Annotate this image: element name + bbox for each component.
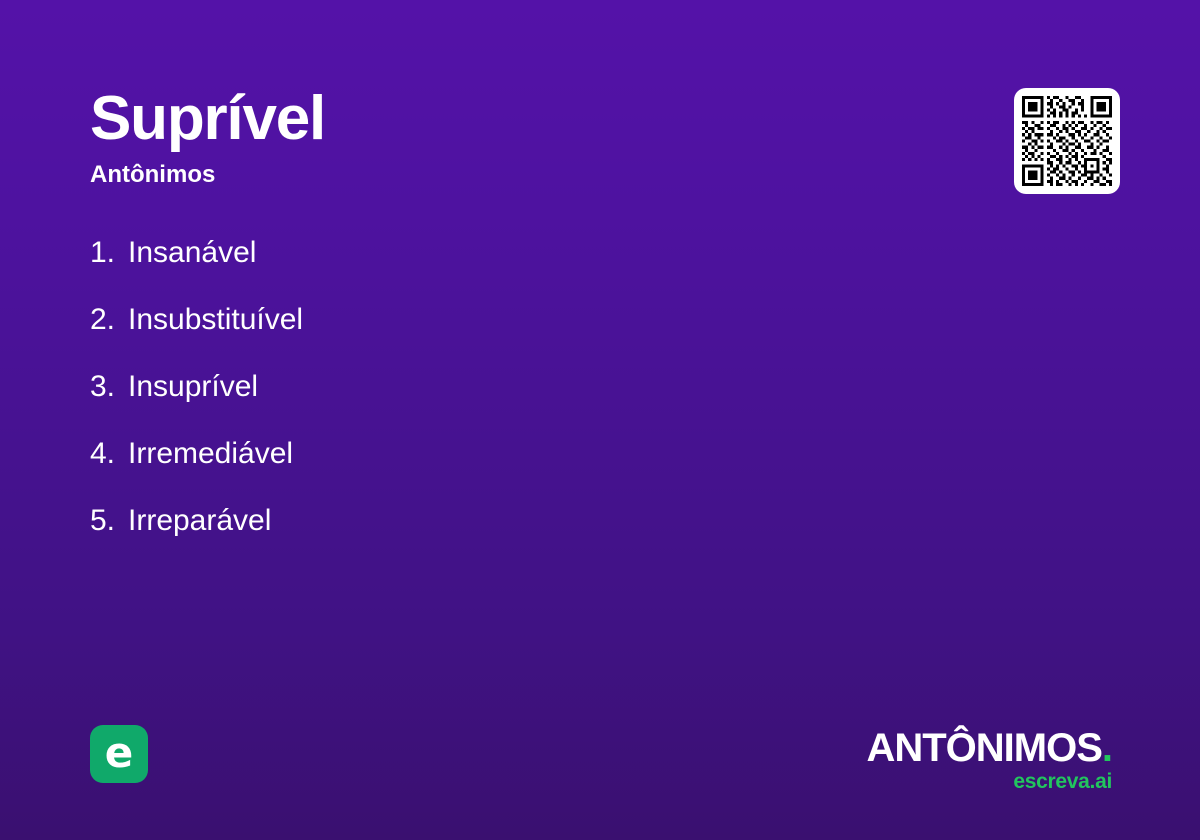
list-item-index: 3. bbox=[90, 372, 128, 402]
brand-logo: e bbox=[90, 725, 148, 783]
list-item-index: 1. bbox=[90, 238, 128, 268]
list-item-index: 4. bbox=[90, 439, 128, 469]
list-item-index: 2. bbox=[90, 305, 128, 335]
list-item: 4. Irremediável bbox=[90, 439, 303, 506]
list-item-word: Insuprível bbox=[128, 372, 258, 402]
footer-brand: ANTÔNIMOS. escreva.ai bbox=[866, 728, 1112, 792]
qr-code[interactable] bbox=[1014, 88, 1120, 194]
list-item: 2. Insubstituível bbox=[90, 305, 303, 372]
list-item-word: Irreparável bbox=[128, 506, 271, 536]
footer-brand-name: ANTÔNIMOS. bbox=[866, 728, 1112, 768]
footer-brand-dot: . bbox=[1102, 726, 1112, 770]
list-item-word: Insubstituível bbox=[128, 305, 303, 335]
list-item: 5. Irreparável bbox=[90, 506, 303, 573]
brand-logo-letter: e bbox=[105, 732, 134, 774]
header: Suprível Antônimos bbox=[90, 86, 325, 189]
category-label: Antônimos bbox=[90, 161, 325, 189]
qr-code-icon bbox=[1022, 96, 1112, 186]
page-title: Suprível bbox=[90, 86, 325, 151]
antonyms-list: 1. Insanável 2. Insubstituível 3. Insupr… bbox=[90, 238, 303, 573]
footer-brand-name-text: ANTÔNIMOS bbox=[866, 726, 1101, 770]
list-item: 1. Insanável bbox=[90, 238, 303, 305]
footer-brand-site: escreva.ai bbox=[866, 771, 1112, 792]
list-item-index: 5. bbox=[90, 506, 128, 536]
antonyms-card: Suprível Antônimos bbox=[0, 0, 1200, 840]
list-item: 3. Insuprível bbox=[90, 372, 303, 439]
list-item-word: Insanável bbox=[128, 238, 256, 268]
list-item-word: Irremediável bbox=[128, 439, 293, 469]
